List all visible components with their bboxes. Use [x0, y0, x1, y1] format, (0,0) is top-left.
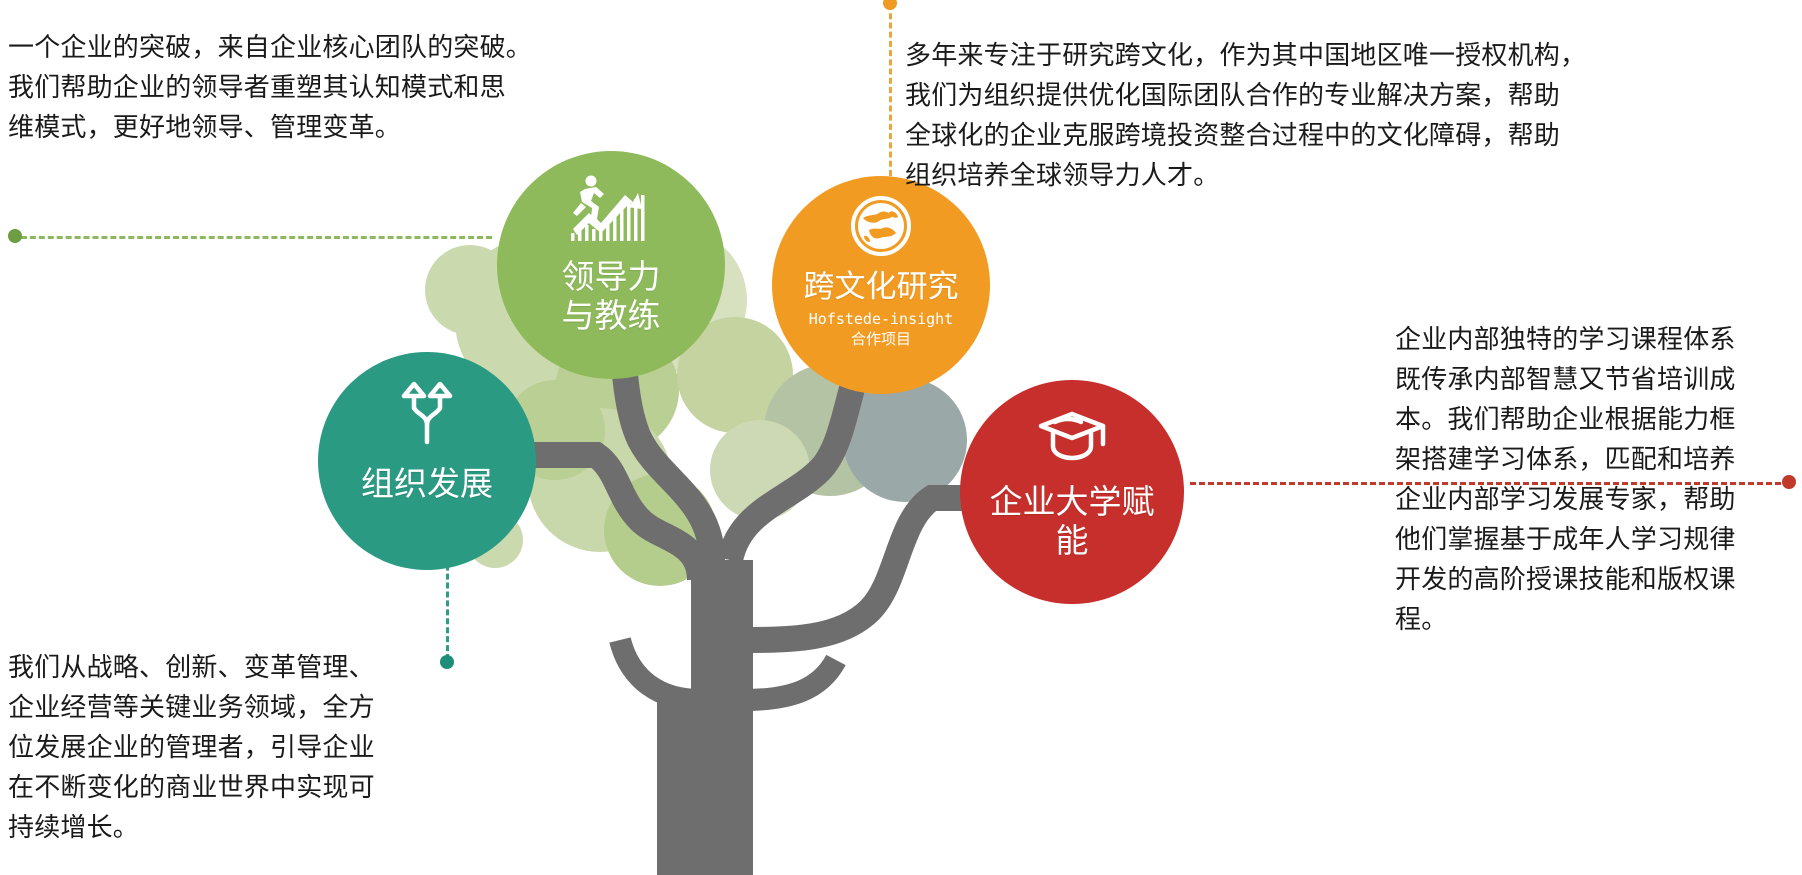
node-subtitle: Hofstede-insight 合作项目 [809, 309, 954, 350]
node-leadership-coaching[interactable]: 领导力 与教练 [497, 151, 725, 379]
paragraph-leadership-description: 一个企业的突破，来自企业核心团队的突破。 我们帮助企业的领导者重塑其认知模式和思… [8, 28, 648, 148]
node-label: 跨文化研究 [804, 269, 959, 306]
branch-stub-left [620, 640, 700, 700]
node-label: 企业大学赋 能 [990, 483, 1155, 561]
diverging-arrows-icon [391, 378, 463, 455]
paragraph-organization-development-description: 我们从战略、创新、变革管理、 企业经营等关键业务领域，全方 位发展企业的管理者，… [8, 648, 408, 848]
green-connector-dot [8, 229, 22, 243]
paragraph-cross-cultural-description: 多年来专注于研究跨文化，作为其中国地区唯一授权机构， 我们为组织提供优化国际团队… [905, 36, 1785, 196]
green-connector-line [12, 236, 492, 239]
infographic-canvas: 组织发展 [0, 0, 1802, 875]
node-organization-development[interactable]: 组织发展 [318, 352, 536, 570]
node-label: 组织发展 [361, 465, 493, 504]
node-cross-cultural-research[interactable]: 跨文化研究 Hofstede-insight 合作项目 [772, 176, 990, 394]
branch-stub-right [744, 660, 836, 700]
paragraph-corporate-university-description: 企业内部独特的学习课程体系 既传承内部智慧又节省培训成 本。我们帮助企业根据能力… [1395, 320, 1795, 640]
running-person-growth-chart-icon [563, 173, 659, 250]
node-corporate-university[interactable]: 企业大学赋 能 [960, 380, 1184, 604]
graduation-cap-icon [1033, 404, 1111, 473]
node-label: 领导力 与教练 [562, 258, 661, 336]
globe-icon [849, 194, 913, 263]
orange-connector-line [889, 4, 892, 176]
teal-connector-dot [440, 655, 454, 669]
